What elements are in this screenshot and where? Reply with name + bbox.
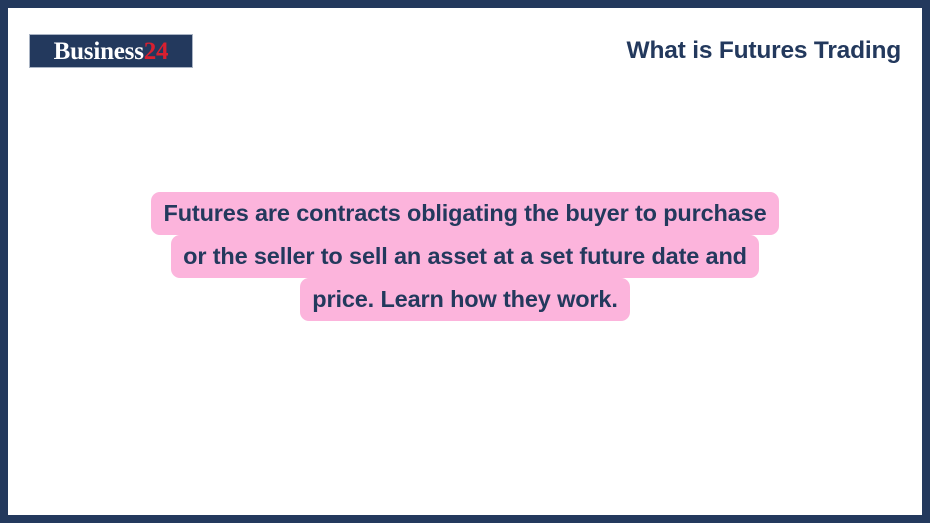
paragraph-row: Futures are contracts obligating the buy…	[8, 192, 922, 235]
main-content: Futures are contracts obligating the buy…	[8, 192, 922, 321]
logo-number-24: 24	[144, 38, 169, 65]
highlighted-line: Futures are contracts obligating the buy…	[151, 192, 778, 235]
page-title: What is Futures Trading	[627, 39, 903, 64]
slide-canvas: Business24 What is Futures Trading Futur…	[0, 0, 930, 523]
highlighted-line: price. Learn how they work.	[300, 278, 629, 321]
paragraph-row: price. Learn how they work.	[8, 278, 922, 321]
slide-header: Business24 What is Futures Trading	[29, 34, 903, 68]
logo-word-business: Business	[54, 38, 144, 65]
logo-text: Business24	[54, 39, 169, 64]
highlighted-line: or the seller to sell an asset at a set …	[171, 235, 759, 278]
highlighted-paragraph: Futures are contracts obligating the buy…	[8, 192, 922, 321]
business24-logo: Business24	[29, 34, 193, 68]
paragraph-row: or the seller to sell an asset at a set …	[8, 235, 922, 278]
